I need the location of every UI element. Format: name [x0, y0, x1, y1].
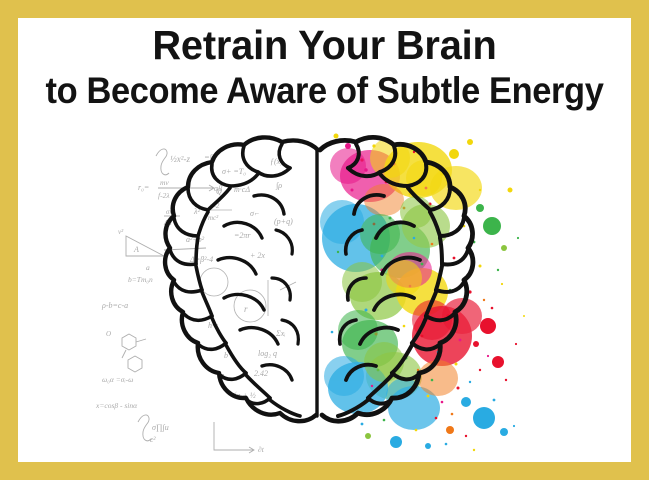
headline-line-1: Retrain Your Brain	[27, 25, 622, 67]
svg-text:mv: mv	[160, 178, 169, 187]
svg-text:Q: Q	[216, 187, 222, 196]
svg-text:σ∏∫u: σ∏∫u	[152, 423, 169, 432]
svg-text:=2πr: =2πr	[234, 231, 251, 240]
svg-text:Σxᵢ: Σxᵢ	[275, 329, 286, 338]
svg-text:ε²: ε²	[150, 435, 156, 444]
brain-illustration: ½x²-z =∫ƒ r₀= mv f-2λ αβ σm Δu v²	[18, 130, 631, 462]
brain-graphic: ½x²-z =∫ƒ r₀= mv f-2λ αβ σm Δu v²	[18, 130, 631, 462]
poster-frame: Retrain Your Brain to Become Aware of Su…	[0, 0, 649, 480]
svg-text:∫ρ: ∫ρ	[275, 181, 282, 190]
svg-text:ω₀α =σᵢ-ω: ω₀α =σᵢ-ω	[102, 375, 133, 384]
svg-text:½x²-z: ½x²-z	[170, 154, 190, 164]
svg-text:A: A	[133, 245, 139, 254]
svg-text:∂t: ∂t	[258, 445, 265, 454]
svg-text:σ⌐: σ⌐	[250, 209, 259, 218]
svg-text:r: r	[244, 304, 248, 314]
svg-text:+ 2x: + 2x	[250, 251, 265, 260]
page-title: Retrain Your Brain to Become Aware of Su…	[18, 18, 631, 110]
svg-text:ρ-b=c-a: ρ-b=c-a	[101, 301, 128, 310]
svg-text:(p+q): (p+q)	[274, 217, 293, 226]
svg-text:2.42: 2.42	[254, 369, 268, 378]
svg-text:f-2λ: f-2λ	[158, 191, 170, 200]
poster-card: Retrain Your Brain to Become Aware of Su…	[18, 18, 631, 462]
svg-text:log₂ q: log₂ q	[258, 349, 277, 358]
svg-text:b=Tm₀n: b=Tm₀n	[128, 275, 153, 284]
svg-text:mc²: mc²	[208, 214, 219, 222]
svg-text:a: a	[146, 263, 150, 272]
svg-text:v²: v²	[118, 228, 124, 236]
svg-text:r₀=: r₀=	[138, 183, 149, 192]
left-hemisphere-outline	[165, 137, 318, 421]
headline-line-2: to Become Aware of Subtle Energy	[39, 72, 609, 110]
svg-text:b: b	[224, 351, 228, 360]
svg-text:σ+ =T₀: σ+ =T₀	[222, 167, 246, 176]
svg-text:x=cosβ - sinα: x=cosβ - sinα	[95, 401, 138, 410]
svg-text:O: O	[106, 330, 111, 338]
